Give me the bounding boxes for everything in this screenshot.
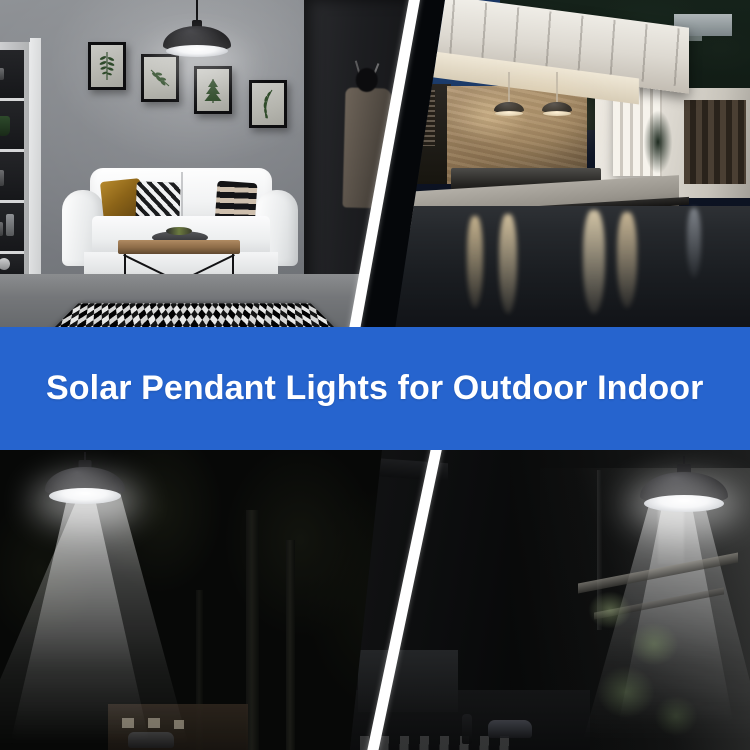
pine-tree-icon — [201, 75, 225, 105]
folding-glass-door — [684, 100, 746, 184]
light-reflection — [583, 210, 605, 314]
parked-car — [488, 720, 532, 738]
pendant-lamp-patio-left — [491, 72, 527, 116]
page-title: Solar Pendant Lights for Outdoor Indoor — [0, 362, 750, 415]
geometric-area-rug — [52, 303, 337, 330]
window-blinds — [395, 90, 435, 146]
garden-tree — [640, 96, 676, 188]
pendant-lamp-indoor — [160, 0, 234, 62]
parked-car — [128, 732, 174, 748]
light-reflection — [499, 214, 517, 314]
pendant-lamp-alley — [636, 456, 732, 518]
panel-living-room — [0, 0, 412, 330]
product-banner-poster: Solar Pendant Lights for Outdoor Indoor — [0, 0, 750, 750]
swimming-pool — [395, 206, 750, 330]
light-reflection — [467, 216, 483, 308]
leaf-branch-icon — [148, 66, 172, 90]
framed-print — [194, 66, 232, 114]
floor-stand — [382, 205, 384, 283]
pedestrian — [462, 714, 472, 744]
crosswalk-markings — [360, 736, 510, 750]
tree-trunk — [286, 540, 295, 750]
climbing-plants — [580, 580, 710, 750]
hanging-coat — [342, 87, 391, 208]
curved-fern-icon — [258, 88, 278, 120]
door-jamb — [30, 38, 41, 286]
panel-poolside-patio — [395, 0, 750, 330]
distant-building — [358, 650, 458, 712]
pendant-lamp-patio-right — [539, 72, 575, 116]
table-top — [118, 240, 240, 254]
fern-leaf-icon — [99, 51, 115, 81]
framed-print — [249, 80, 287, 128]
light-reflection — [687, 208, 701, 278]
panel-alley-night — [350, 450, 750, 750]
framed-print — [88, 42, 126, 90]
light-reflection — [617, 212, 637, 308]
pendant-lamp-forest — [42, 452, 128, 508]
title-banner: Solar Pendant Lights for Outdoor Indoor — [0, 327, 750, 450]
white-bookshelf — [0, 42, 32, 277]
patio-interior-room — [395, 84, 451, 184]
